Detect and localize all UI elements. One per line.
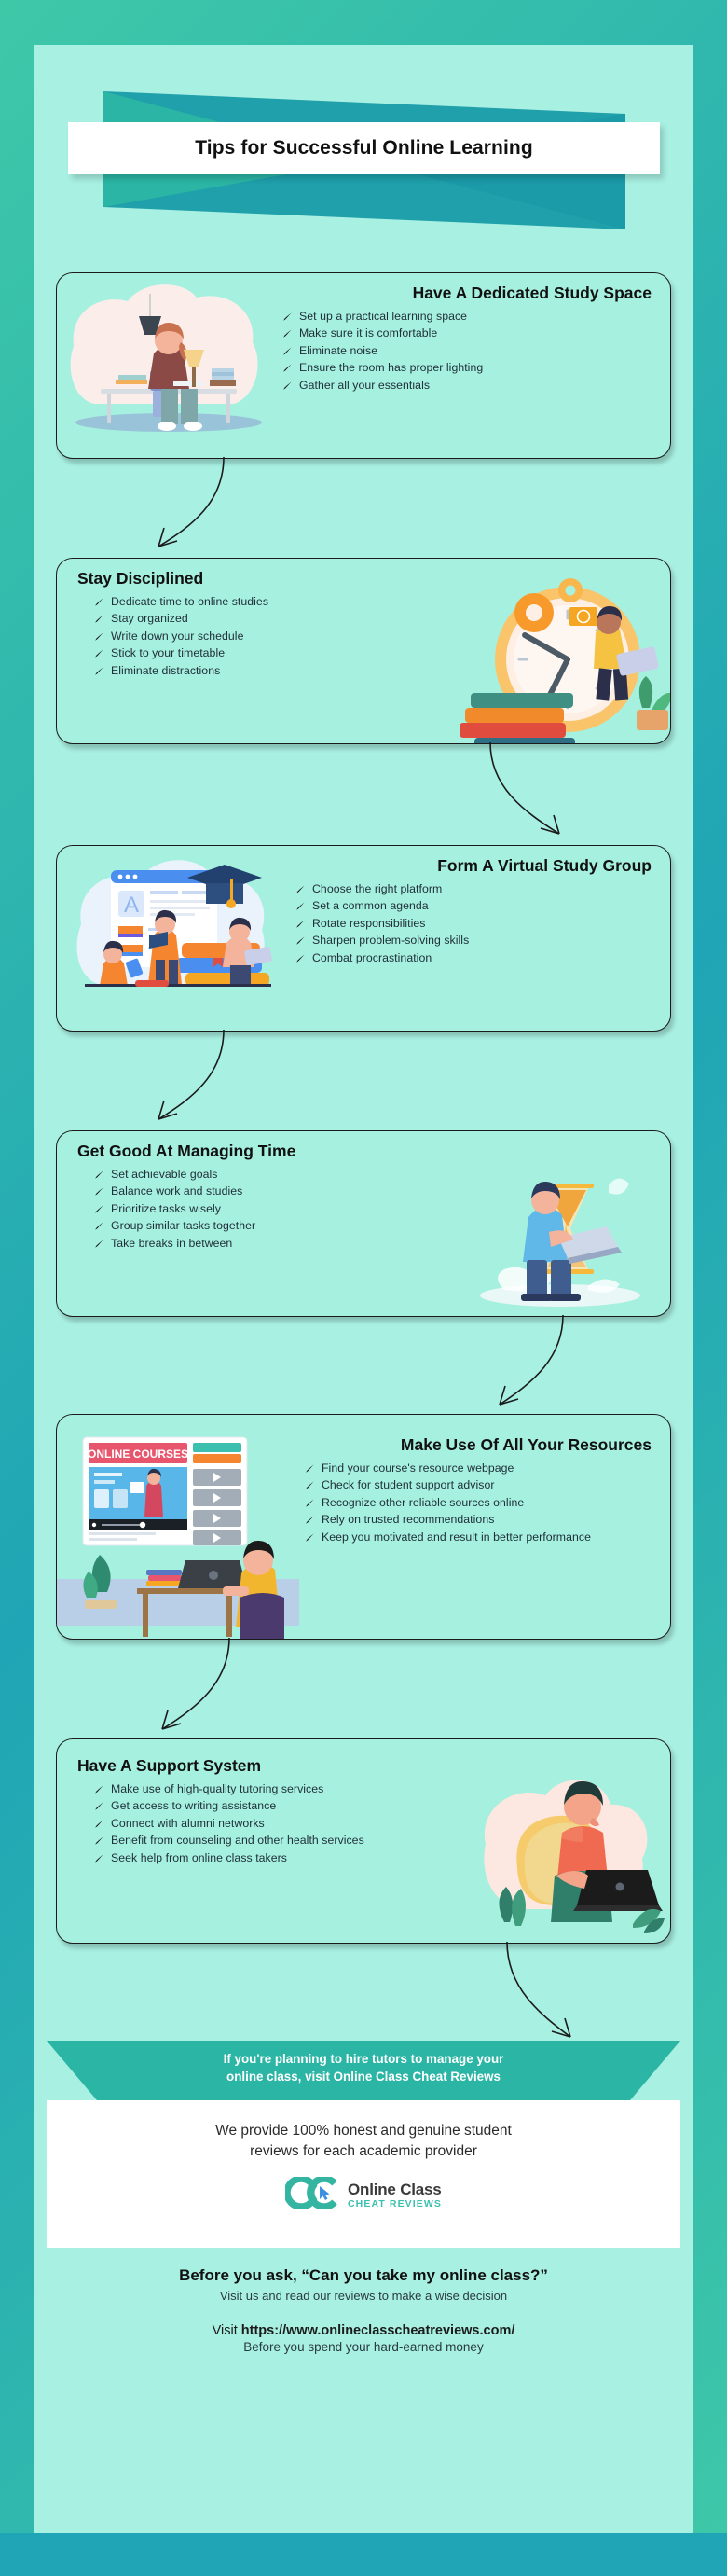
- list-item: Benefit from counseling and other health…: [92, 1833, 372, 1849]
- brand-logo[interactable]: Online Class CHEAT REVIEWS: [47, 2162, 680, 2213]
- study-group-illustration: A: [57, 846, 290, 1031]
- list-item: Stick to your timetable: [92, 645, 426, 661]
- connector-arrow-5: [136, 1636, 254, 1746]
- list-item: Balance work and studies: [92, 1184, 435, 1199]
- website-url[interactable]: https://www.onlineclasscheatreviews.com/: [241, 2323, 515, 2338]
- card-support-system[interactable]: Have A Support System Make use of high-q…: [56, 1738, 671, 1944]
- list-item: Seek help from online class takers: [92, 1850, 452, 1866]
- pen-bullet-icon: [295, 884, 306, 894]
- logo-tagline: CHEAT REVIEWS: [348, 2199, 442, 2209]
- pen-bullet-icon: [94, 1170, 104, 1180]
- list-item: Find your course's resource webpage: [303, 1461, 657, 1476]
- bottom-strip: [0, 2533, 727, 2576]
- card-managing-time[interactable]: Get Good At Managing Time Set achievable…: [56, 1130, 671, 1317]
- list-item: Stay organized: [92, 611, 426, 627]
- card-text-block: Make Use Of All Your Resources Find your…: [299, 1415, 670, 1639]
- list-item: Recognize other reliable sources online: [303, 1495, 657, 1511]
- list-item: Write down your schedule: [92, 629, 426, 644]
- pen-bullet-icon: [282, 328, 293, 339]
- visit-prefix: Visit: [213, 2323, 241, 2338]
- card-virtual-study-group[interactable]: A: [56, 845, 671, 1032]
- logo-name: Online Class: [348, 2181, 442, 2197]
- list-item: Get access to writing assistance: [92, 1798, 452, 1814]
- pen-bullet-icon: [305, 1532, 315, 1543]
- oc-infinity-cursor-logo-icon: [285, 2177, 339, 2213]
- card-title: Have A Support System: [77, 1756, 452, 1775]
- pen-bullet-icon: [305, 1498, 315, 1508]
- connector-arrow-2: [462, 741, 583, 851]
- list-item: Check for student support advisor: [303, 1477, 657, 1493]
- card-text-block: Have A Support System Make use of high-q…: [57, 1739, 465, 1943]
- bullet-list: Dedicate time to online studies Stay org…: [77, 594, 426, 678]
- list-item: Choose the right platform: [294, 881, 657, 897]
- card-use-all-resources[interactable]: ONLINE COURSES: [56, 1414, 671, 1640]
- student-at-desk-illustration: [57, 273, 277, 458]
- pen-bullet-icon: [94, 648, 104, 658]
- list-item: Set a common agenda: [294, 898, 657, 914]
- pen-bullet-icon: [94, 1239, 104, 1249]
- list-item: Connect with alumni networks: [92, 1816, 452, 1832]
- list-item: Rotate responsibilities: [294, 916, 657, 932]
- connector-arrow-4: [472, 1313, 591, 1421]
- card-title: Form A Virtual Study Group: [294, 856, 657, 875]
- bullet-list: Choose the right platform Set a common a…: [294, 881, 657, 965]
- list-item: Sharpen problem-solving skills: [294, 933, 657, 949]
- pen-bullet-icon: [295, 901, 306, 911]
- card-title: Stay Disciplined: [77, 569, 426, 588]
- card-stay-disciplined[interactable]: Stay Disciplined Dedicate time to online…: [56, 558, 671, 744]
- list-item: Rely on trusted recommendations: [303, 1512, 657, 1528]
- footer-visit-line[interactable]: Visit https://www.onlineclasscheatreview…: [34, 2323, 693, 2338]
- pen-bullet-icon: [305, 1515, 315, 1525]
- footer-headline: Before you ask, “Can you take my online …: [34, 2266, 693, 2285]
- list-item: Set up a practical learning space: [281, 309, 657, 325]
- promo-line-1: We provide 100% honest and genuine stude…: [47, 2121, 680, 2141]
- pen-bullet-icon: [282, 312, 293, 322]
- pen-bullet-icon: [94, 1186, 104, 1197]
- pen-bullet-icon: [94, 1784, 104, 1794]
- pen-bullet-icon: [94, 597, 104, 607]
- pen-bullet-icon: [94, 614, 104, 624]
- connector-arrow-1: [134, 455, 246, 563]
- list-item: Group similar tasks together: [92, 1218, 435, 1234]
- svg-text:A: A: [124, 893, 139, 918]
- card-title: Make Use Of All Your Resources: [303, 1435, 657, 1454]
- footer: Before you ask, “Can you take my online …: [34, 2266, 693, 2354]
- hourglass-laptop-illustration: [448, 1131, 670, 1316]
- clock-books-illustration: [439, 559, 670, 743]
- bullet-list: Set up a practical learning space Make s…: [281, 309, 657, 393]
- footer-subline: Visit us and read our reviews to make a …: [34, 2289, 693, 2303]
- list-item: Ensure the room has proper lighting: [281, 360, 657, 376]
- pen-bullet-icon: [305, 1480, 315, 1490]
- pen-bullet-icon: [94, 1853, 104, 1863]
- connector-arrow-6: [470, 1940, 591, 2052]
- pen-bullet-icon: [94, 1221, 104, 1231]
- pen-bullet-icon: [94, 1204, 104, 1214]
- cta-line-2: online class, visit Online Class Cheat R…: [34, 2068, 693, 2085]
- infographic-root: Tips for Successful Online Learning: [0, 0, 727, 2576]
- list-item: Make sure it is comfortable: [281, 325, 657, 341]
- cta-text: If you're planning to hire tutors to man…: [34, 2041, 693, 2085]
- list-item: Gather all your essentials: [281, 378, 657, 394]
- pen-bullet-icon: [94, 1835, 104, 1846]
- pen-bullet-icon: [295, 935, 306, 946]
- connector-arrow-3: [134, 1028, 248, 1136]
- list-item: Dedicate time to online studies: [92, 594, 426, 610]
- pen-bullet-icon: [94, 666, 104, 676]
- online-courses-label: ONLINE COURSES: [88, 1447, 188, 1461]
- list-item: Set achievable goals: [92, 1167, 435, 1183]
- title-banner: Tips for Successful Online Learning: [68, 122, 660, 174]
- promo-line-2: reviews for each academic provider: [47, 2141, 680, 2162]
- page-title: Tips for Successful Online Learning: [195, 137, 533, 159]
- pen-bullet-icon: [94, 631, 104, 642]
- infographic-canvas: Tips for Successful Online Learning: [34, 45, 693, 2533]
- cta-banner: If you're planning to hire tutors to man…: [34, 2041, 693, 2100]
- pen-bullet-icon: [295, 919, 306, 929]
- card-text-block: Get Good At Managing Time Set achievable…: [57, 1131, 448, 1316]
- card-title: Have A Dedicated Study Space: [281, 284, 657, 302]
- card-text-block: Form A Virtual Study Group Choose the ri…: [290, 846, 670, 1031]
- pen-bullet-icon: [282, 381, 293, 391]
- list-item: Prioritize tasks wisely: [92, 1201, 435, 1217]
- header: Tips for Successful Online Learning: [34, 45, 693, 241]
- card-text-block: Have A Dedicated Study Space Set up a pr…: [277, 273, 670, 458]
- card-text-block: Stay Disciplined Dedicate time to online…: [57, 559, 439, 743]
- bullet-list: Set achievable goals Balance work and st…: [77, 1167, 435, 1251]
- list-item: Eliminate distractions: [92, 663, 426, 679]
- footer-closing: Before you spend your hard-earned money: [34, 2340, 693, 2354]
- list-item: Take breaks in between: [92, 1236, 435, 1252]
- card-title: Get Good At Managing Time: [77, 1142, 435, 1160]
- pen-bullet-icon: [295, 953, 306, 963]
- bullet-list: Make use of high-quality tutoring servic…: [77, 1781, 452, 1865]
- cta-line-1: If you're planning to hire tutors to man…: [34, 2050, 693, 2068]
- pen-bullet-icon: [94, 1819, 104, 1829]
- promo-panel: We provide 100% honest and genuine stude…: [47, 2100, 680, 2248]
- card-dedicated-study-space[interactable]: Have A Dedicated Study Space Set up a pr…: [56, 272, 671, 459]
- list-item: Eliminate noise: [281, 343, 657, 359]
- list-item: Keep you motivated and result in better …: [303, 1530, 657, 1545]
- online-courses-screen-illustration: ONLINE COURSES: [57, 1415, 299, 1639]
- bullet-list: Find your course's resource webpage Chec…: [303, 1461, 657, 1544]
- pen-bullet-icon: [282, 346, 293, 356]
- pen-bullet-icon: [94, 1801, 104, 1811]
- person-on-beanbag-laptop-illustration: [465, 1739, 670, 1943]
- promo-text: We provide 100% honest and genuine stude…: [47, 2100, 680, 2162]
- list-item: Make use of high-quality tutoring servic…: [92, 1781, 452, 1797]
- pen-bullet-icon: [282, 363, 293, 373]
- pen-bullet-icon: [305, 1463, 315, 1474]
- list-item: Combat procrastination: [294, 950, 657, 966]
